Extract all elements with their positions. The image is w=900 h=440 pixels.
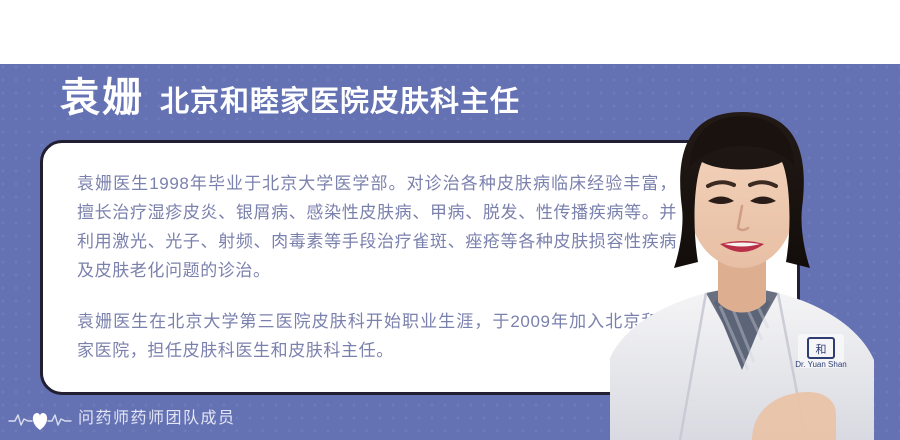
top-white-strip xyxy=(0,0,900,64)
bio-card: 袁姗医生1998年毕业于北京大学医学部。对诊治各种皮肤病临床经验丰富，擅长治疗湿… xyxy=(40,140,800,395)
doctor-role-title: 北京和睦家医院皮肤科主任 xyxy=(160,88,520,117)
coat-badge-text: Dr. Yuan Shan xyxy=(795,360,846,369)
footer-credit: 问药师药师团队成员 xyxy=(8,404,236,434)
purple-banner: 袁姗 北京和睦家医院皮肤科主任 袁姗医生1998年毕业于北京大学医学部。对诊治各… xyxy=(0,64,900,440)
doctor-profile-banner: 袁姗 北京和睦家医院皮肤科主任 袁姗医生1998年毕业于北京大学医学部。对诊治各… xyxy=(0,0,900,440)
bio-paragraph-1: 袁姗医生1998年毕业于北京大学医学部。对诊治各种皮肤病临床经验丰富，擅长治疗湿… xyxy=(77,169,677,285)
footer-label: 问药师药师团队成员 xyxy=(78,411,236,427)
svg-text:和: 和 xyxy=(816,343,827,356)
doctor-name: 袁姗 xyxy=(60,78,144,118)
header-title-row: 袁姗 北京和睦家医院皮肤科主任 xyxy=(60,78,520,118)
coat-name-badge: 和 Dr. Yuan Shan xyxy=(795,334,846,369)
hand xyxy=(752,392,836,440)
bio-card-content: 袁姗医生1998年毕业于北京大学医学部。对诊治各种皮肤病临床经验丰富，擅长治疗湿… xyxy=(43,143,797,365)
ecg-heart-icon xyxy=(8,406,72,432)
bio-paragraph-2: 袁姗医生在北京大学第三医院皮肤科开始职业生涯，于2009年加入北京和睦家医院，担… xyxy=(77,307,677,365)
